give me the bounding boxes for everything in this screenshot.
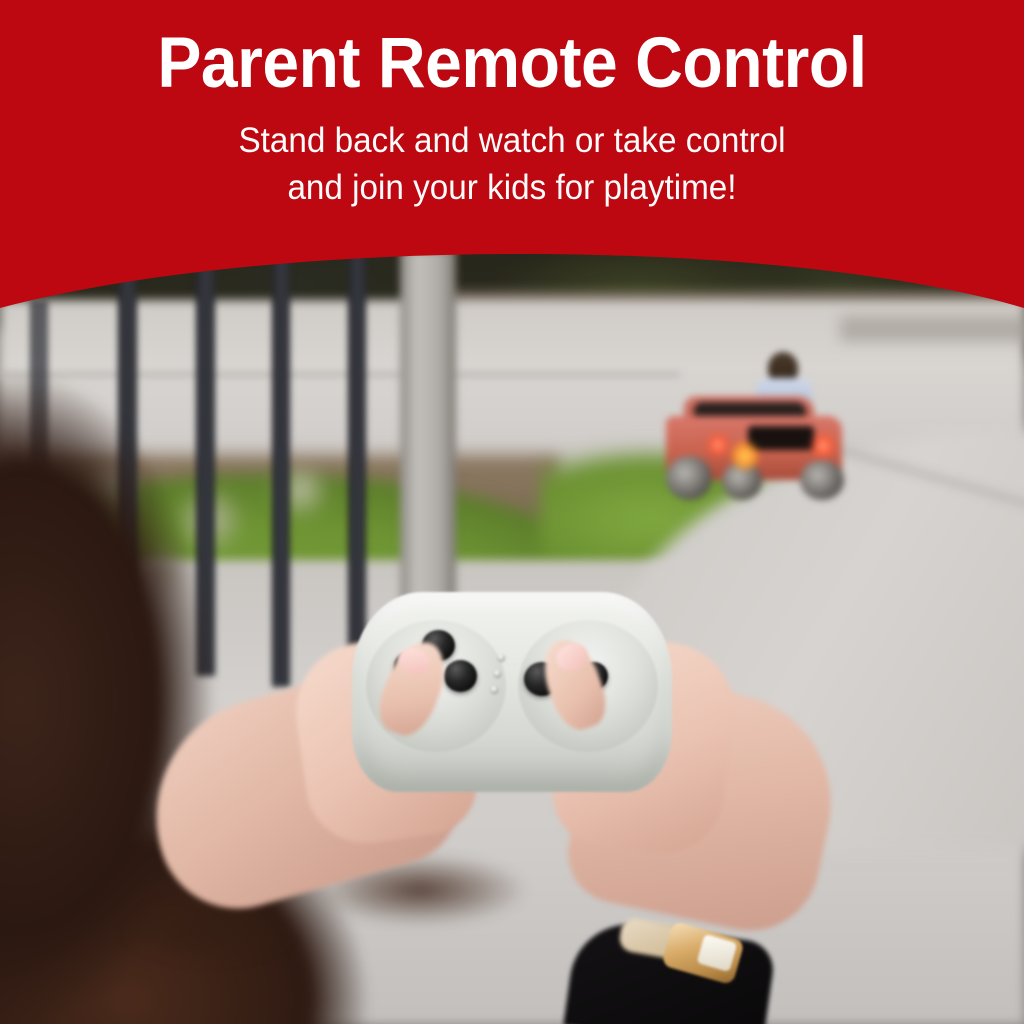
truck-wheel bbox=[666, 456, 712, 500]
taillight-right bbox=[812, 434, 834, 458]
remote-led-indicator bbox=[498, 654, 505, 661]
remote-led-indicator bbox=[491, 686, 498, 693]
taillight-left bbox=[708, 434, 728, 456]
remote-knob-lower-left[interactable] bbox=[444, 660, 477, 692]
taillight-center bbox=[732, 442, 758, 470]
truck-wheel bbox=[800, 460, 844, 500]
background-trees bbox=[0, 0, 1024, 330]
promo-graphic: Parent Remote Control Stand back and wat… bbox=[0, 0, 1024, 1024]
truck-rear-window bbox=[748, 426, 814, 450]
ride-on-truck bbox=[660, 390, 850, 500]
hero-photo bbox=[0, 0, 1024, 1024]
street-seam-right bbox=[840, 316, 1024, 342]
remote-led-indicator bbox=[494, 670, 501, 677]
